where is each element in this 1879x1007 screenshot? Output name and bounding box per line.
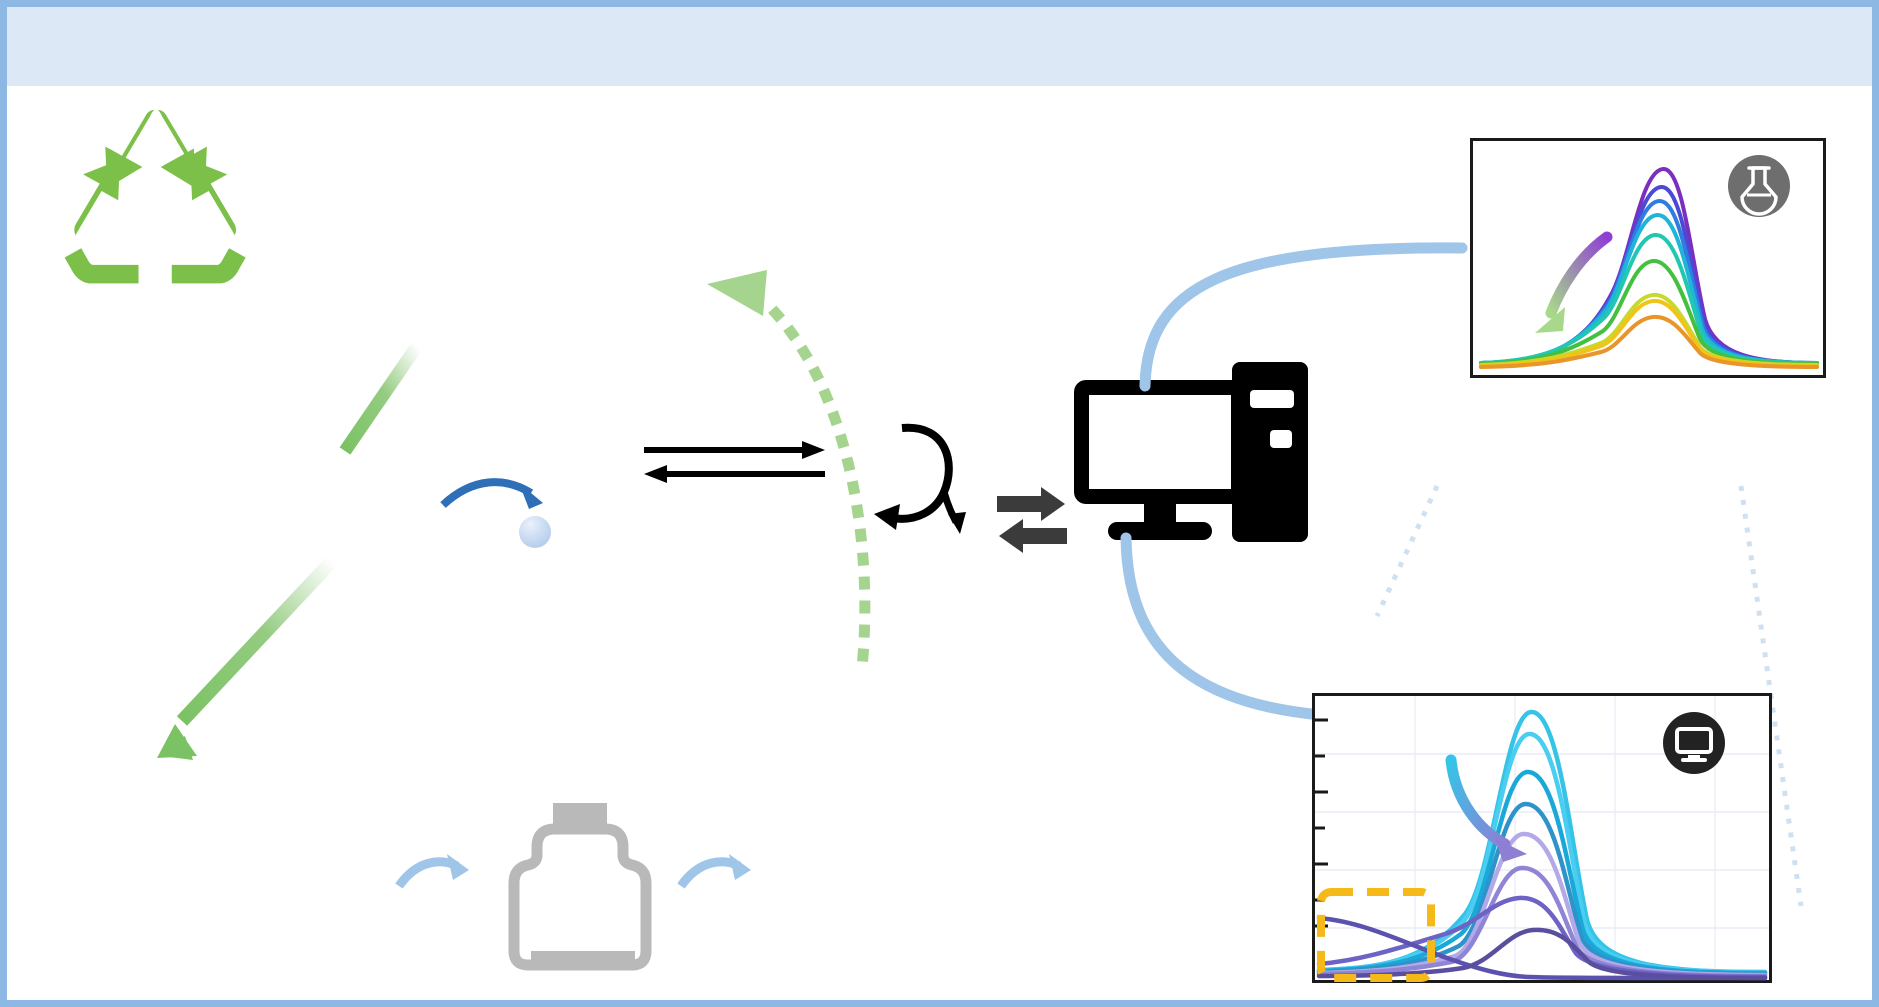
- header-banner: [7, 7, 1872, 86]
- flask-icon: [1728, 155, 1790, 217]
- equilibrium-arrows-icon: [642, 438, 827, 490]
- jar-outflow-arrow: [679, 846, 757, 904]
- abstract-canvas: [7, 86, 1872, 1000]
- graphical-abstract: [0, 0, 1879, 1007]
- in-silico-computer: [1072, 356, 1327, 556]
- released-monomer-bead: [519, 516, 551, 548]
- experimental-trend-arrow: [1531, 233, 1621, 343]
- experimental-panel: [1470, 98, 1842, 388]
- green-arrow-top-to-middle: [127, 266, 457, 786]
- recycle-icon: [62, 106, 252, 276]
- simulated-trend-arrow: [1443, 756, 1538, 868]
- atrp-recycle-logo: [62, 106, 252, 276]
- connector-to-experimental-panel: [1107, 166, 1467, 386]
- bidirectional-exchange-arrows-icon: [997, 487, 1067, 553]
- monitor-icon: [1663, 712, 1725, 774]
- simulated-plot-frame: [1312, 693, 1772, 983]
- experimental-badge: [1728, 155, 1790, 217]
- exchange-arrows: [995, 486, 1069, 552]
- simulated-panel: [1312, 651, 1782, 991]
- jar-monomer-beads: [497, 801, 662, 981]
- depropagation-cycle-arrow-icon: [852, 410, 967, 545]
- desktop-computer-icon: [1072, 356, 1327, 556]
- simulated-badge: [1663, 712, 1725, 774]
- monomer-jar: [497, 801, 662, 981]
- experimental-plot-frame: [1470, 138, 1826, 378]
- jar-inflow-arrow: [397, 846, 475, 904]
- atrp-equation: [552, 386, 972, 576]
- polymer-chain-group-top: [347, 106, 677, 266]
